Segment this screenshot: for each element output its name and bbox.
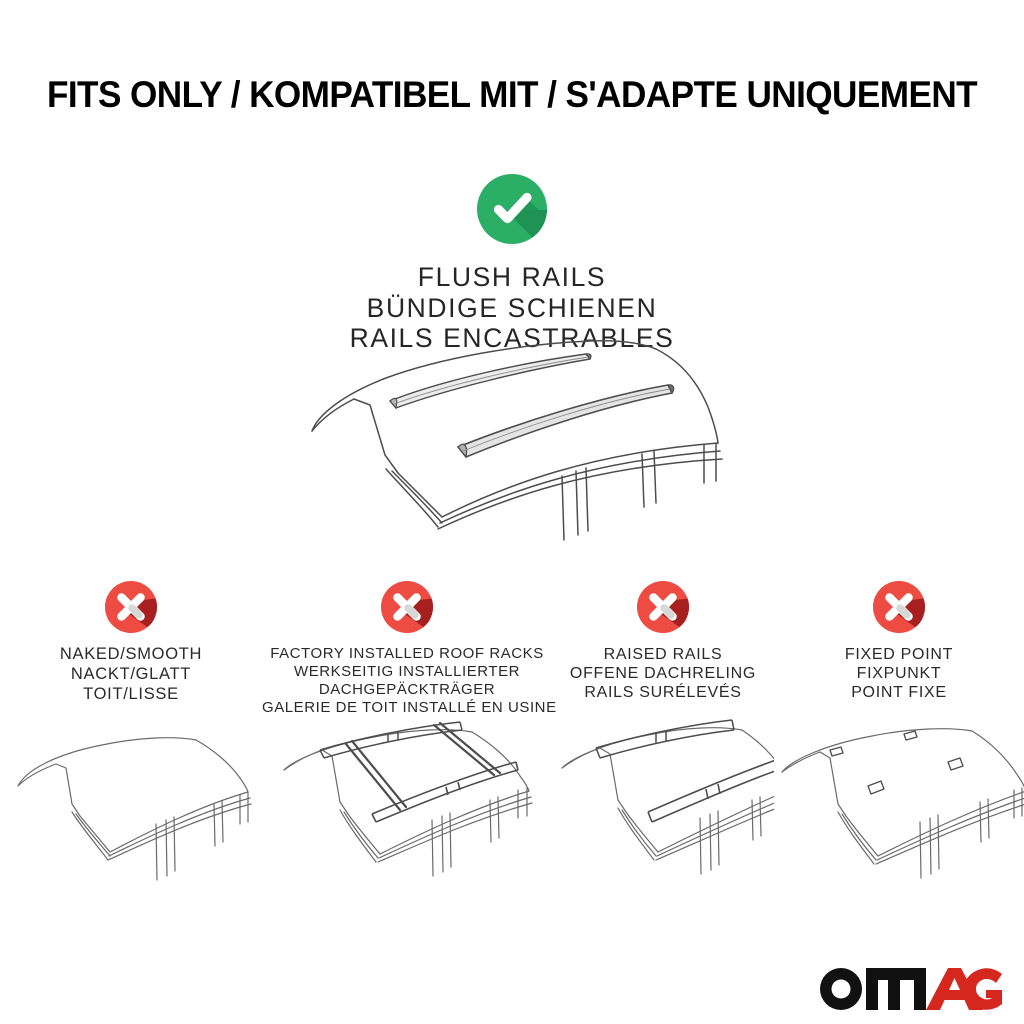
x-circle-icon xyxy=(870,578,928,636)
option-labels-raised-rails: RAISED RAILS OFFENE DACHRELING RAILS SUR… xyxy=(552,645,774,703)
omac-logo xyxy=(816,958,1002,1010)
compatible-label-en: FLUSH RAILS xyxy=(0,262,1024,293)
car-roof-flush-rails-illustration xyxy=(290,335,730,565)
car-roof-fixed-point-drawing xyxy=(774,718,1024,908)
option-raised-rails: RAISED RAILS OFFENE DACHRELING RAILS SUR… xyxy=(552,578,774,728)
label-fr: GALERIE DE TOIT INSTALLÉ EN USINE xyxy=(262,699,552,717)
car-roof-flush-rails-drawing xyxy=(290,335,730,565)
label-fr: TOIT/LISSE xyxy=(0,685,262,705)
logo-letter-o xyxy=(820,968,862,1010)
label-en: RAISED RAILS xyxy=(552,645,774,664)
compatible-section: FLUSH RAILS BÜNDIGE SCHIENEN RAILS ENCAS… xyxy=(0,170,1024,354)
incompatible-options-row: NAKED/SMOOTH NACKT/GLATT TOIT/LISSE xyxy=(0,578,1024,728)
logo-letter-m xyxy=(866,968,926,1010)
fitment-infographic: FITS ONLY / KOMPATIBEL MIT / S'ADAPTE UN… xyxy=(0,0,1024,1024)
label-de: NACKT/GLATT xyxy=(0,665,262,685)
car-roof-fixed-point-illustration xyxy=(774,718,1024,908)
option-factory-installed-roof-racks: FACTORY INSTALLED ROOF RACKS WERKSEITIG … xyxy=(262,578,552,728)
label-de-line1: WERKSEITIG INSTALLIERTER xyxy=(262,663,552,681)
option-fixed-point: FIXED POINT FIXPUNKT POINT FIXE xyxy=(774,578,1024,728)
page-title: FITS ONLY / KOMPATIBEL MIT / S'ADAPTE UN… xyxy=(26,74,999,116)
option-naked-smooth: NAKED/SMOOTH NACKT/GLATT TOIT/LISSE xyxy=(0,578,262,728)
label-fr: POINT FIXE xyxy=(774,683,1024,702)
label-en: NAKED/SMOOTH xyxy=(0,645,262,665)
flush-rail-far xyxy=(390,354,591,408)
option-labels-factory-racks: FACTORY INSTALLED ROOF RACKS WERKSEITIG … xyxy=(262,645,552,717)
label-de: OFFENE DACHRELING xyxy=(552,664,774,683)
label-de-line2: DACHGEPÄCKTRÄGER xyxy=(262,681,552,699)
compatible-label-de: BÜNDIGE SCHIENEN xyxy=(0,293,1024,324)
label-en: FACTORY INSTALLED ROOF RACKS xyxy=(262,645,552,663)
car-roof-factory-racks-drawing xyxy=(262,718,552,908)
x-circle-icon xyxy=(102,578,160,636)
x-circle-icon xyxy=(378,578,436,636)
car-roof-raised-rails-illustration xyxy=(552,718,774,908)
x-badge-naked-smooth xyxy=(102,578,160,636)
x-badge-factory-racks xyxy=(378,578,436,636)
label-en: FIXED POINT xyxy=(774,645,1024,664)
label-de: FIXPUNKT xyxy=(774,664,1024,683)
car-roof-factory-racks-illustration xyxy=(262,718,552,908)
check-circle-icon xyxy=(473,170,551,248)
option-labels-fixed-point: FIXED POINT FIXPUNKT POINT FIXE xyxy=(774,645,1024,703)
car-roof-naked-drawing xyxy=(0,718,262,908)
omac-logo-mark xyxy=(816,958,1002,1010)
x-badge-raised-rails xyxy=(634,578,692,636)
flush-rail-near xyxy=(458,385,674,457)
car-roof-naked-illustration xyxy=(0,718,262,908)
x-badge-fixed-point xyxy=(870,578,928,636)
incompatible-illustrations-row xyxy=(0,718,1024,908)
x-circle-icon xyxy=(634,578,692,636)
label-fr: RAILS SURÉLEVÉS xyxy=(552,683,774,702)
check-badge xyxy=(473,170,551,248)
car-roof-raised-rails-drawing xyxy=(552,718,774,908)
option-labels-naked-smooth: NAKED/SMOOTH NACKT/GLATT TOIT/LISSE xyxy=(0,645,262,704)
